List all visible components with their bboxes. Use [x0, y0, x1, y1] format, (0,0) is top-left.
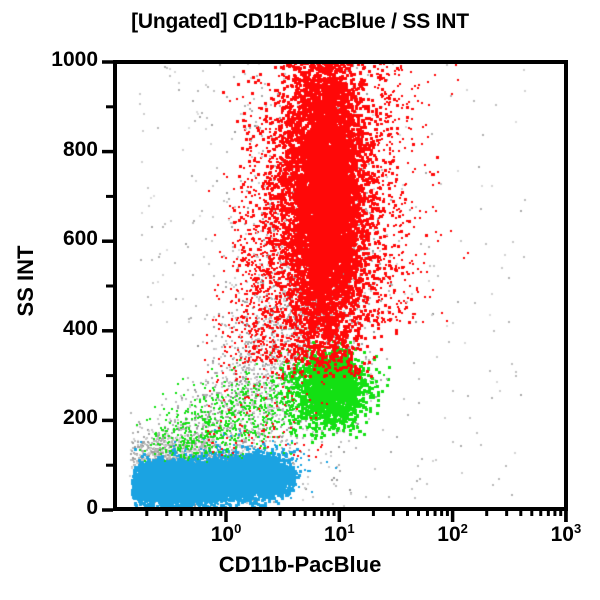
x-tick-label: 101 [294, 523, 384, 547]
flow-cytometry-scatter-plot: [Ungated] CD11b-PacBlue / SS INT SS INT … [0, 0, 600, 600]
page-title: [Ungated] CD11b-PacBlue / SS INT [0, 10, 600, 34]
scatter-points-canvas [117, 64, 564, 507]
y-tick-label: 200 [18, 406, 98, 430]
y-axis-title: SS INT [13, 181, 39, 381]
y-tick-label: 800 [18, 138, 98, 162]
y-tick-label: 600 [18, 227, 98, 251]
x-axis-title: CD11b-PacBlue [0, 552, 600, 578]
x-tick-label: 100 [181, 523, 271, 547]
x-tick-label: 103 [521, 523, 600, 547]
plot-area [113, 60, 568, 511]
x-tick-label: 102 [408, 523, 498, 547]
y-tick-label: 1000 [18, 48, 98, 72]
y-tick-label: 0 [18, 496, 98, 520]
y-tick-label: 400 [18, 317, 98, 341]
